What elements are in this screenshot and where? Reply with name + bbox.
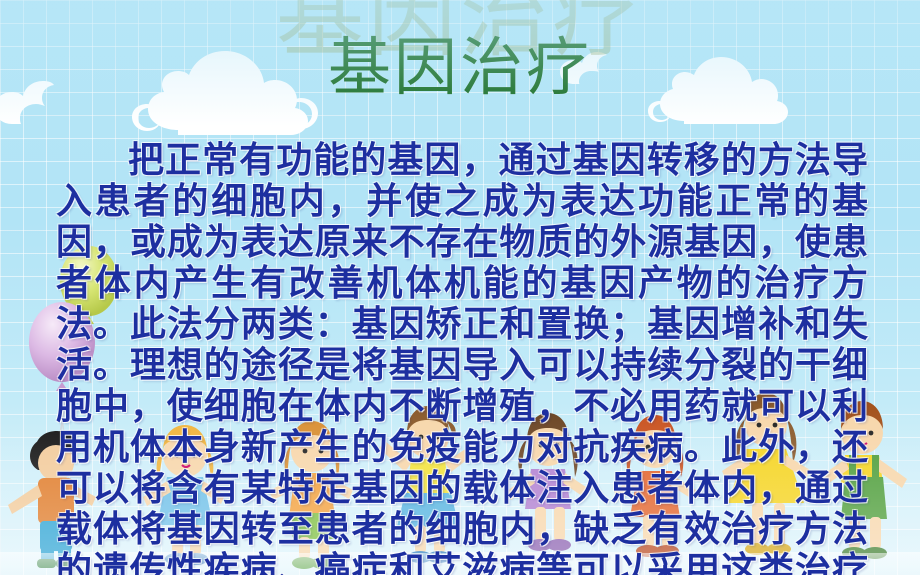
title-area: 基因治疗 基因治疗 <box>0 0 920 135</box>
page-title: 基因治疗 <box>0 36 920 99</box>
body-paragraph: 把正常有功能的基因，通过基因转移的方法导入患者的细胞内，并使之成为表达功能正常的… <box>56 140 868 575</box>
slide-canvas: 基因治疗 基因治疗 <box>0 0 920 575</box>
